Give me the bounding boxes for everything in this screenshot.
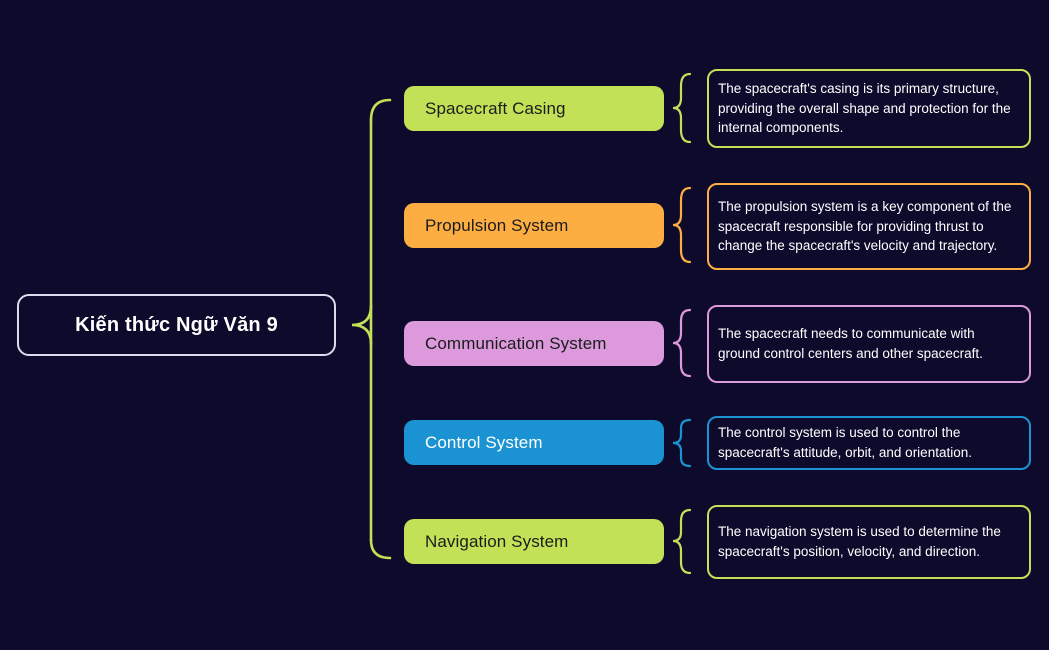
root-node[interactable]: Kiến thức Ngữ Văn 9 bbox=[17, 294, 336, 356]
branch-node-label: Propulsion System bbox=[425, 216, 568, 236]
branch-node-control-system[interactable]: Control System bbox=[404, 420, 664, 465]
description-box-propulsion-system: The propulsion system is a key component… bbox=[707, 183, 1031, 270]
description-text: The navigation system is used to determi… bbox=[718, 522, 1018, 561]
description-text: The control system is used to control th… bbox=[718, 423, 1018, 462]
branch-node-label: Communication System bbox=[425, 334, 607, 354]
description-box-spacecraft-casing: The spacecraft's casing is its primary s… bbox=[707, 69, 1031, 148]
branch-node-label: Control System bbox=[425, 433, 543, 453]
brace-2 bbox=[673, 188, 690, 262]
branch-node-navigation-system[interactable]: Navigation System bbox=[404, 519, 664, 564]
description-text: The spacecraft's casing is its primary s… bbox=[718, 79, 1018, 138]
description-box-navigation-system: The navigation system is used to determi… bbox=[707, 505, 1031, 579]
branch-node-label: Spacecraft Casing bbox=[425, 99, 566, 119]
brace-4 bbox=[673, 420, 690, 466]
description-box-control-system: The control system is used to control th… bbox=[707, 416, 1031, 470]
description-text: The spacecraft needs to communicate with… bbox=[718, 324, 1018, 363]
trunk-bottom-curve bbox=[371, 540, 390, 558]
description-text: The propulsion system is a key component… bbox=[718, 197, 1018, 256]
brace-5 bbox=[673, 510, 690, 573]
brace-1 bbox=[673, 74, 690, 142]
mindmap-canvas: Kiến thức Ngữ Văn 9 Spacecraft Casing Th… bbox=[0, 0, 1049, 650]
trunk-root-curl bbox=[352, 306, 371, 344]
branch-node-spacecraft-casing[interactable]: Spacecraft Casing bbox=[404, 86, 664, 131]
brace-3 bbox=[673, 310, 690, 376]
branch-node-communication-system[interactable]: Communication System bbox=[404, 321, 664, 366]
branch-node-label: Navigation System bbox=[425, 532, 568, 552]
root-node-label: Kiến thức Ngữ Văn 9 bbox=[75, 314, 278, 337]
trunk-top-curve bbox=[371, 100, 390, 120]
branch-node-propulsion-system[interactable]: Propulsion System bbox=[404, 203, 664, 248]
description-box-communication-system: The spacecraft needs to communicate with… bbox=[707, 305, 1031, 383]
